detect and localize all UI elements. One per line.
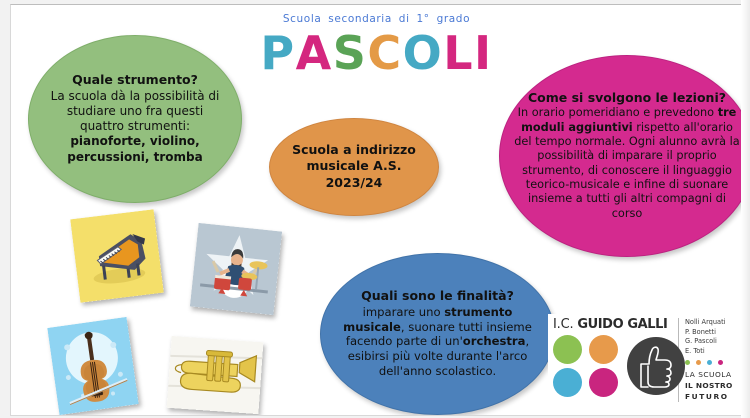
title-letter-s: S (333, 30, 368, 76)
title-letter-l: L (443, 30, 474, 76)
logo-wordmark: I.C. GUIDO GALLI (553, 317, 678, 332)
logo-motto-line1: LA SCUOLA (685, 370, 733, 381)
logo-school-name: P. Bonetti (685, 328, 733, 338)
logo-motto-line2: IL NOSTRO (685, 381, 733, 392)
logo-wordmark-bold: GUIDO GALLI (577, 317, 667, 332)
ellipse-indirizzo-heading: Scuola a indirizzo musicale A.S. 2023/24 (286, 142, 422, 192)
school-logo: I.C. GUIDO GALLI (548, 314, 743, 406)
logo-school-list: Nolli ArquatiP. BonettiG. PascoliE. Toti (685, 318, 733, 356)
ellipse-finalita-body: imparare uno strumento musicale, suonare… (337, 305, 538, 379)
logo-dot-green-icon (553, 335, 582, 364)
violino-card (47, 317, 138, 415)
ellipse-finalita-heading: Quali sono le finalità? (361, 289, 514, 304)
title-letter-o: O (403, 30, 444, 76)
small-dot-blue-icon (707, 360, 712, 365)
title-letter-c: C (367, 30, 402, 76)
thumbs-up-badge (627, 337, 685, 395)
thumbs-up-icon (637, 344, 675, 388)
ellipse-scuola-a-indirizzo-musicale: Scuola a indirizzo musicale A.S. 2023/24 (269, 118, 439, 216)
logo-dot-pink-icon (589, 368, 618, 397)
logo-school-name: E. Toti (685, 347, 733, 357)
logo-graphic (553, 335, 678, 397)
piano-card (70, 209, 164, 303)
logo-dot-orange-icon (589, 335, 618, 364)
logo-wordmark-light: I.C. (553, 317, 577, 332)
logo-motto: LA SCUOLA IL NOSTRO FUTURO (685, 370, 733, 402)
logo-dot-blue-icon (553, 368, 582, 397)
ellipse-strumento-body: La scuola dà la possibilità di studiare … (49, 89, 221, 165)
grand-piano-icon (70, 209, 164, 303)
small-dot-orange-icon (696, 360, 701, 365)
logo-small-dots (685, 360, 733, 365)
slide-frame: Scuola secondaria di 1° grado PASCOLI Qu… (0, 0, 750, 418)
title-letter-a: A (296, 30, 333, 76)
ellipse-strumento-heading: Quale strumento? (72, 73, 198, 88)
logo-right: Nolli ArquatiP. BonettiG. PascoliE. Toti… (678, 318, 733, 402)
small-dot-pink-icon (718, 360, 723, 365)
violin-icon (47, 317, 138, 415)
trumpet-icon (167, 336, 264, 414)
logo-school-name: G. Pascoli (685, 337, 733, 347)
tromba-card (167, 336, 264, 414)
ellipse-come-si-svolgono-le-lezioni: Come si svolgono le lezioni? In orario p… (499, 55, 743, 257)
logo-left: I.C. GUIDO GALLI (548, 314, 678, 397)
drummer-icon (190, 223, 282, 315)
title-letter-i: I (474, 30, 493, 76)
ellipse-quale-strumento: Quale strumento? La scuola dà la possibi… (28, 35, 242, 203)
small-dot-green-icon (685, 360, 690, 365)
school-subtitle: Scuola secondaria di 1° grado (11, 13, 742, 25)
ellipse-lezioni-body: In orario pomeridiano e prevedono tre mo… (514, 106, 740, 221)
logo-school-name: Nolli Arquati (685, 318, 733, 328)
percussioni-card (190, 223, 282, 315)
slide-edge-shadow (741, 0, 750, 418)
slide-canvas: Scuola secondaria di 1° grado PASCOLI Qu… (10, 4, 743, 416)
logo-motto-line3: FUTURO (685, 392, 733, 403)
ellipse-quali-sono-le-finalita: Quali sono le finalità? imparare uno str… (320, 253, 555, 415)
title-letter-p: P (260, 30, 295, 76)
ellipse-lezioni-heading: Come si svolgono le lezioni? (528, 91, 726, 106)
